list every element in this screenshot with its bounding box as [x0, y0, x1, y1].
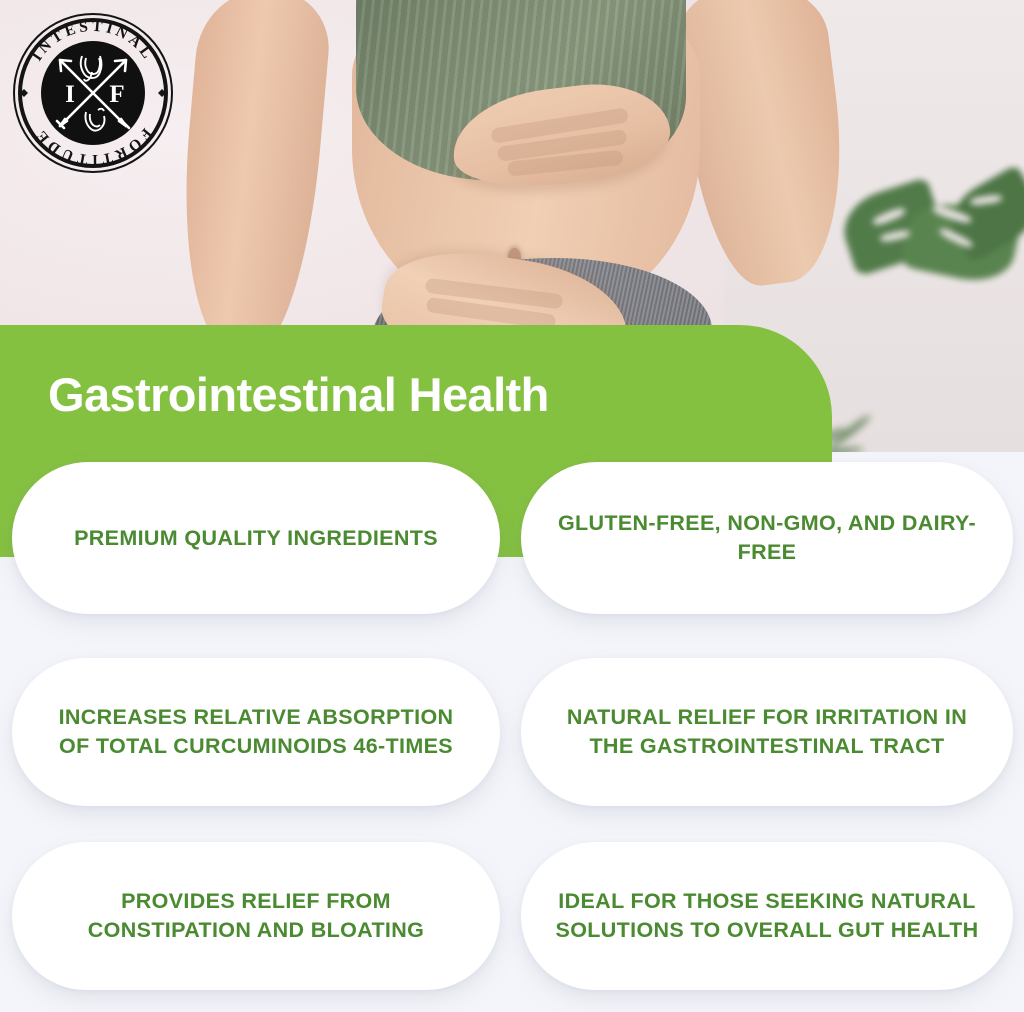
benefit-pill-relief-constipation-bloating[interactable]: PROVIDES RELIEF FROM CONSTIPATION AND BL… — [12, 842, 500, 990]
benefit-pill-increases-relative-absorption[interactable]: INCREASES RELATIVE ABSORPTION OF TOTAL C… — [12, 658, 500, 806]
right-arm — [672, 0, 857, 292]
benefit-row-1: PREMIUM QUALITY INGREDIENTS GLUTEN-FREE,… — [0, 462, 1024, 618]
svg-text:F: F — [109, 81, 124, 108]
page-title: Gastrointestinal Health — [48, 369, 808, 421]
infographic-canvas: INTESTINAL FORTITUDE I F — [0, 0, 1024, 1012]
benefit-pill-premium-quality-ingredients[interactable]: PREMIUM QUALITY INGREDIENTS — [12, 462, 500, 614]
benefit-row-3: PROVIDES RELIEF FROM CONSTIPATION AND BL… — [0, 842, 1024, 990]
benefit-row-2: INCREASES RELATIVE ABSORPTION OF TOTAL C… — [0, 658, 1024, 806]
benefit-pill-ideal-natural-solutions-gut-health[interactable]: IDEAL FOR THOSE SEEKING NATURAL SOLUTION… — [521, 842, 1013, 990]
benefit-pill-natural-relief-irritation[interactable]: NATURAL RELIEF FOR IRRITATION IN THE GAS… — [521, 658, 1013, 806]
left-arm — [171, 0, 334, 355]
svg-text:I: I — [65, 81, 75, 108]
benefit-pill-gluten-free-non-gmo-dairy-free[interactable]: GLUTEN-FREE, NON-GMO, AND DAIRY-FREE — [521, 462, 1013, 614]
intestinal-fortitude-logo-icon: INTESTINAL FORTITUDE I F — [8, 8, 178, 178]
benefits-grid: PREMIUM QUALITY INGREDIENTS GLUTEN-FREE,… — [0, 462, 1024, 1012]
